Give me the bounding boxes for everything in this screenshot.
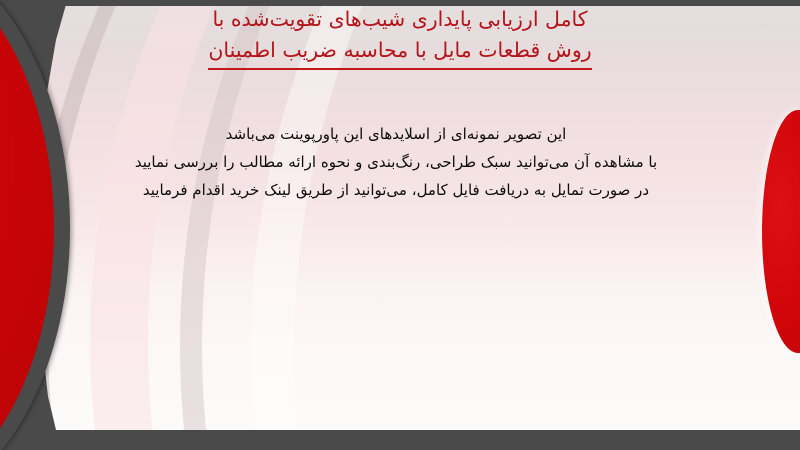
body-line-2: با مشاهده آن می‌توانید سبک طراحی، رنگ‌بن… — [32, 148, 760, 176]
title-line-1: کامل ارزیابی پایداری شیب‌های تقویت‌شده ب… — [48, 4, 752, 35]
slide-body-text: این تصویر نمونه‌ای از اسلایدهای این پاور… — [32, 120, 760, 204]
title-line-2: روش قطعات مایل با محاسبه ضریب اطمینان — [208, 35, 591, 70]
body-line-3: در صورت تمایل به دریافت فایل کامل، می‌تو… — [32, 176, 760, 204]
body-line-1: این تصویر نمونه‌ای از اسلایدهای این پاور… — [32, 120, 760, 148]
presentation-slide: کامل ارزیابی پایداری شیب‌های تقویت‌شده ب… — [0, 0, 800, 450]
title-line-2-wrapper: روش قطعات مایل با محاسبه ضریب اطمینان — [48, 35, 752, 70]
slide-title: کامل ارزیابی پایداری شیب‌های تقویت‌شده ب… — [48, 4, 752, 70]
